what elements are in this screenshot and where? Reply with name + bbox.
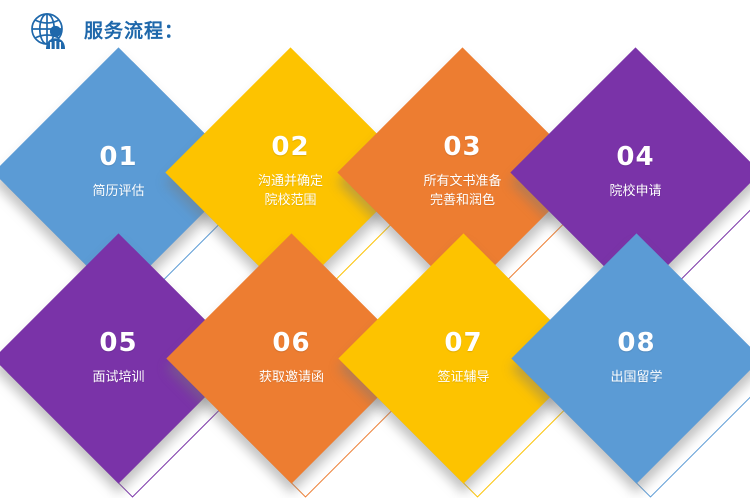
process-node-08[interactable]: 08 出国留学 [548, 270, 725, 447]
node-shape-08 [511, 233, 750, 483]
service-process-diagram: 01 简历评估 02 沟通并确定 院校范围 03 所有文书准备 完善和润色 04… [0, 0, 750, 484]
